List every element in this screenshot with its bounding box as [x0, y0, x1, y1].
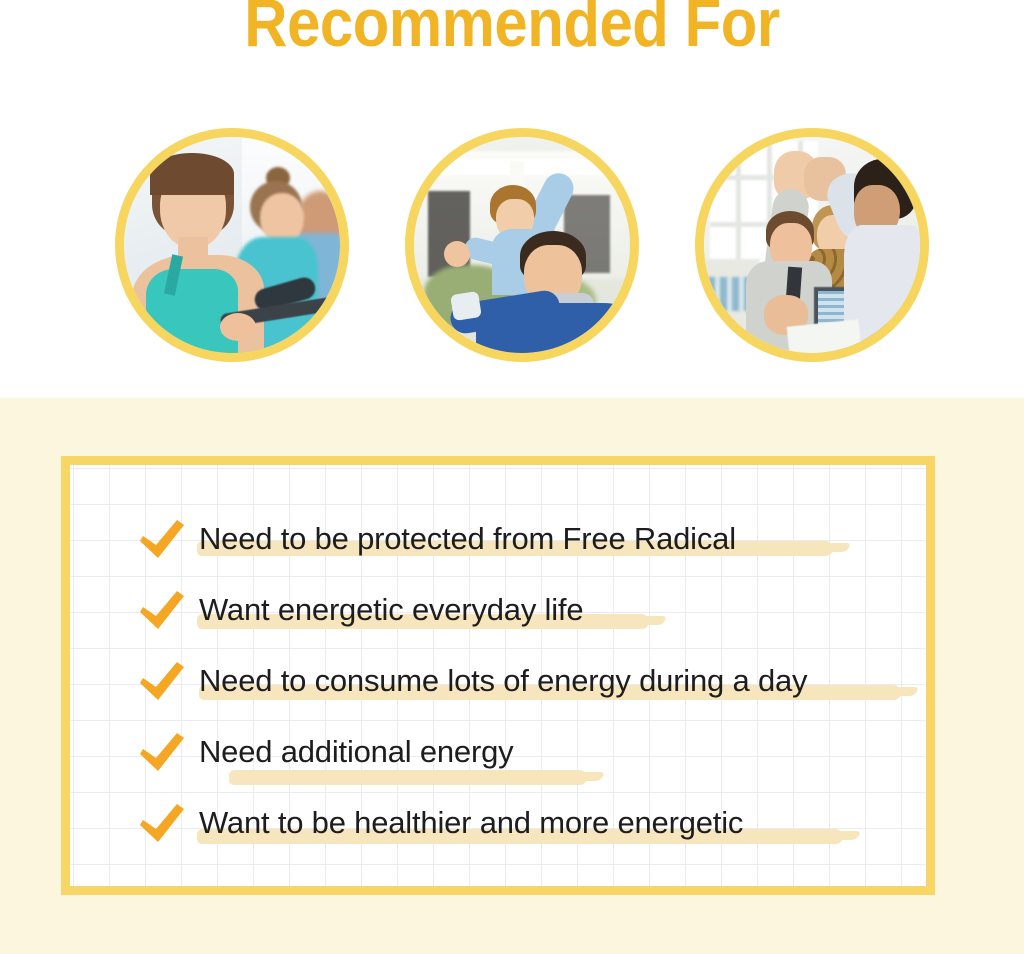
list-item: Want to be healthier and more energetic	[70, 795, 743, 851]
list-item-label: Need to be protected from Free Radical	[199, 521, 736, 556]
list-item-label: Need to consume lots of energy during a …	[199, 663, 807, 698]
list-item-label: Want energetic everyday life	[199, 592, 583, 627]
list-item: Need to consume lots of energy during a …	[70, 653, 807, 709]
gym-spin-class-photo	[115, 128, 349, 362]
list-item-text-wrap: Want to be healthier and more energetic	[199, 805, 743, 841]
list-item-label: Want to be healthier and more energetic	[199, 805, 743, 840]
photo-circle-row	[0, 128, 1024, 368]
list-item-text-wrap: Need to be protected from Free Radical	[199, 521, 736, 557]
check-icon	[135, 516, 189, 562]
list-item: Want energetic everyday life	[70, 582, 583, 638]
benefits-list: Need to be protected from Free Radical W…	[70, 465, 926, 886]
check-icon	[135, 658, 189, 704]
father-and-son-photo	[405, 128, 639, 362]
list-item-label: Need additional energy	[199, 734, 513, 769]
list-item: Need to be protected from Free Radical	[70, 511, 736, 567]
office-high-five-photo	[695, 128, 929, 362]
list-item-text-wrap: Need to consume lots of energy during a …	[199, 663, 807, 699]
check-icon	[135, 800, 189, 846]
list-item: Need additional energy	[70, 724, 513, 780]
list-item-text-wrap: Need additional energy	[199, 734, 513, 770]
check-icon	[135, 587, 189, 633]
benefits-card: Need to be protected from Free Radical W…	[61, 456, 935, 895]
highlighter-stroke	[229, 770, 587, 785]
hero-section: Recommended For	[0, 0, 1024, 398]
check-icon	[135, 729, 189, 775]
list-item-text-wrap: Want energetic everyday life	[199, 592, 583, 628]
recommended-for-infographic: Recommended For	[0, 0, 1024, 954]
page-title: Recommended For	[61, 0, 962, 61]
